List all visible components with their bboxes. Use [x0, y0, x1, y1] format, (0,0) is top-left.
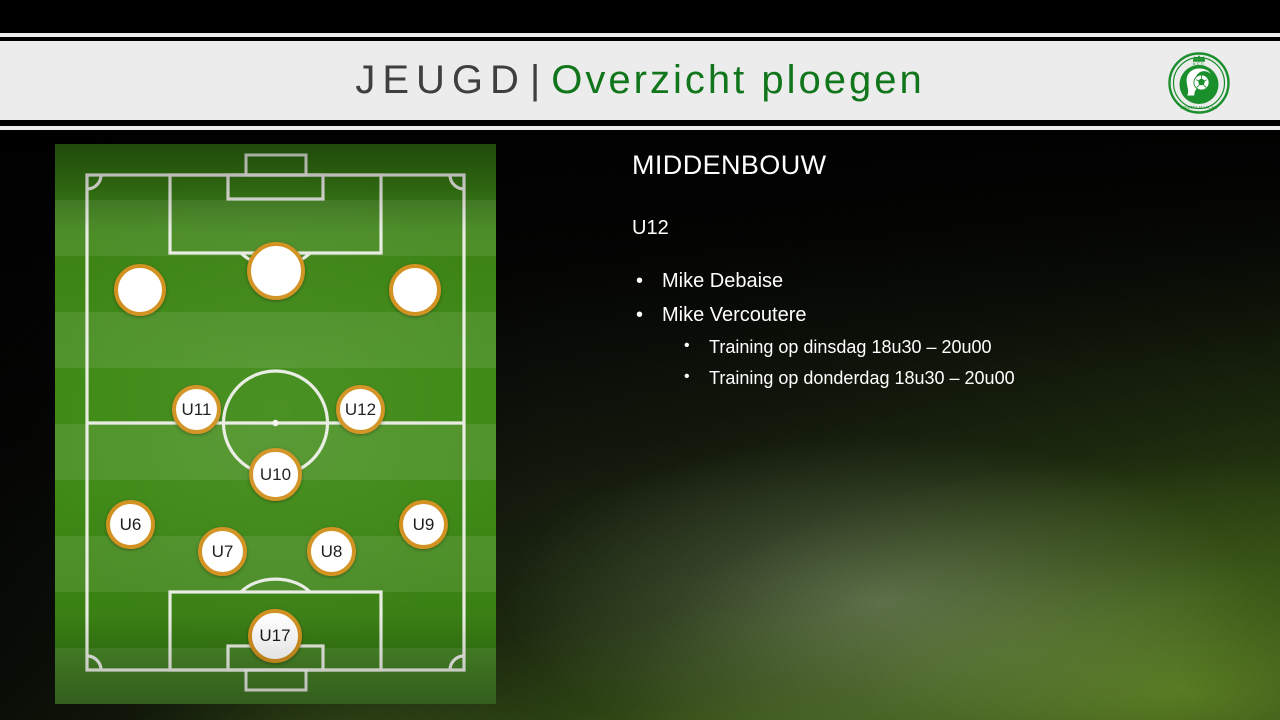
- player-token-label: U7: [212, 542, 234, 562]
- page-title-separator: |: [526, 58, 551, 103]
- list-item-label: Mike Vercoutere: [662, 304, 807, 326]
- header-rule-dark-bottom-2: [0, 130, 1280, 133]
- content-panel: MIDDENBOUW U12 • Mike Debaise • Mike Ver…: [632, 144, 1232, 399]
- list-item-label: Training op donderdag 18u30 – 20u00: [709, 368, 1015, 388]
- bullet-glyph: •: [636, 268, 643, 294]
- top-black-band: [0, 0, 1280, 33]
- player-token-u11[interactable]: U11: [172, 385, 221, 434]
- player-token-u8[interactable]: U8: [307, 527, 356, 576]
- bullet-glyph: •: [684, 365, 690, 390]
- player-token-u6[interactable]: U6: [106, 500, 155, 549]
- section-heading: MIDDENBOUW: [632, 151, 1232, 181]
- player-token-u7[interactable]: U7: [198, 527, 247, 576]
- page-title-prefix: JEUGD: [355, 58, 526, 103]
- player-token-label: U17: [259, 626, 290, 646]
- team-subheading: U12: [632, 217, 1232, 240]
- list-item: • Mike Vercoutere • Training op dinsdag …: [632, 302, 1232, 391]
- player-token-label: U10: [260, 465, 291, 485]
- coach-list: • Mike Debaise • Mike Vercoutere • Train…: [632, 268, 1232, 391]
- player-token-rw[interactable]: [389, 264, 441, 316]
- football-pitch: U11 U12 U10 U6 U9 U7 U8 U17: [55, 144, 496, 704]
- list-item-label: Mike Debaise: [662, 270, 783, 292]
- list-item: • Mike Debaise: [632, 268, 1232, 294]
- svg-text:K.F.C.: K.F.C.: [1193, 62, 1206, 67]
- player-token-label: U8: [321, 542, 343, 562]
- club-crest-logo: K.F.C. SPARTA HAACHT: [1168, 52, 1230, 114]
- slide: JEUGD | Overzicht ploegen K.F.C. SPARTA …: [0, 0, 1280, 720]
- list-item: • Training op donderdag 18u30 – 20u00: [680, 365, 1232, 391]
- player-token-lw[interactable]: [114, 264, 166, 316]
- page-title: JEUGD | Overzicht ploegen: [0, 41, 1280, 120]
- page-title-main: Overzicht ploegen: [551, 58, 924, 103]
- player-token-label: U6: [120, 515, 142, 535]
- player-token-u10[interactable]: U10: [249, 448, 302, 501]
- list-item: • Training op dinsdag 18u30 – 20u00: [680, 334, 1232, 360]
- player-token-u12[interactable]: U12: [336, 385, 385, 434]
- player-token-u9[interactable]: U9: [399, 500, 448, 549]
- player-token-label: U12: [345, 400, 376, 420]
- training-schedule-list: • Training op dinsdag 18u30 – 20u00 • Tr…: [680, 334, 1232, 390]
- list-item-label: Training op dinsdag 18u30 – 20u00: [709, 337, 992, 357]
- player-token-label: U11: [182, 400, 212, 420]
- player-token-u17[interactable]: U17: [248, 609, 302, 663]
- player-token-label: U9: [413, 515, 435, 535]
- bullet-glyph: •: [684, 334, 690, 359]
- player-token-st[interactable]: [247, 242, 305, 300]
- bullet-glyph: •: [636, 302, 643, 328]
- svg-text:SPARTA HAACHT: SPARTA HAACHT: [1180, 105, 1218, 110]
